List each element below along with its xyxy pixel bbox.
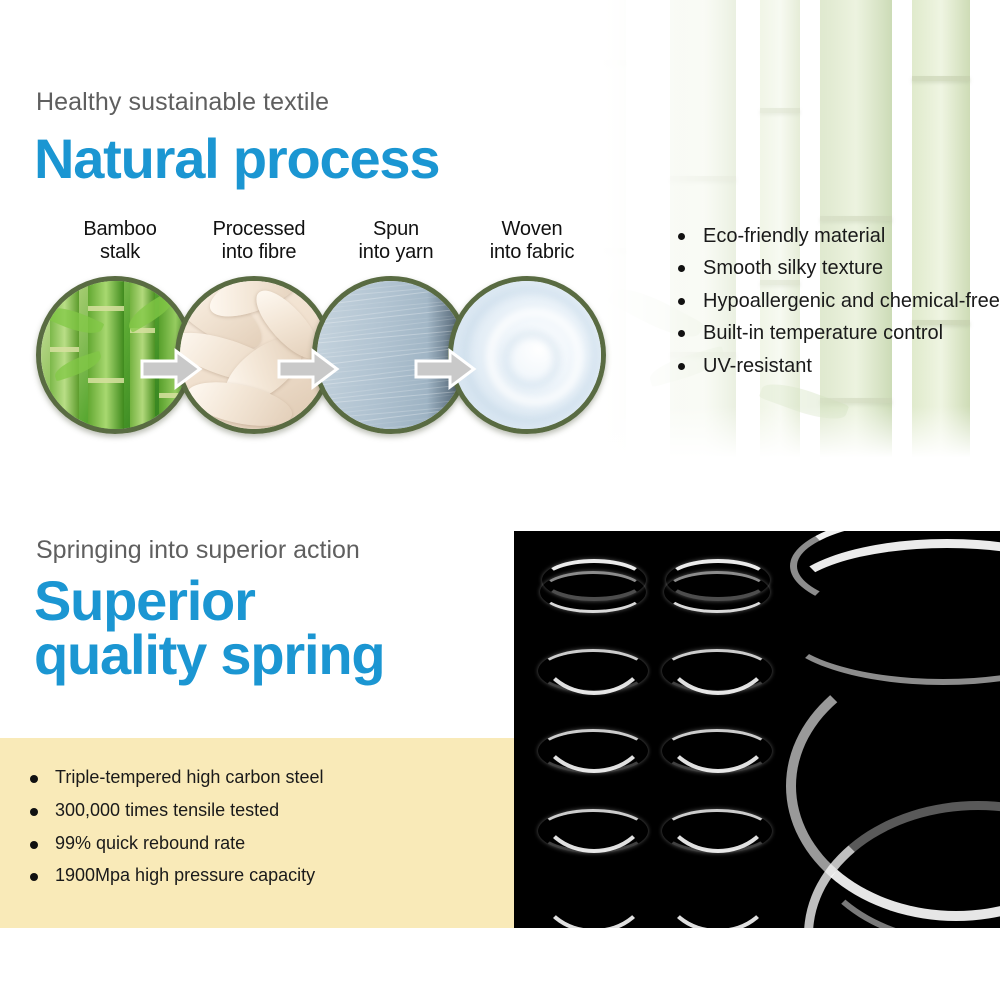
process-step-woven-into-fabric: Woven into fabric — [448, 218, 616, 263]
process-step-label: Woven into fabric — [448, 218, 616, 263]
bullet-dot-icon — [30, 808, 38, 816]
bullet-dot-icon — [30, 775, 38, 783]
bullet-dot-icon — [678, 363, 685, 370]
bullet-dot-icon — [678, 330, 685, 337]
list-item-label: Hypoallergenic and chemical-free — [703, 287, 1000, 315]
coil-spring-small — [660, 553, 770, 913]
spring-features-list: Triple-tempered high carbon steel 300,00… — [30, 766, 323, 897]
eyebrow-spring: Springing into superior action — [36, 536, 360, 565]
process-step-label-line1: Processed — [213, 218, 306, 240]
bullet-dot-icon — [678, 298, 685, 305]
right-arrow-icon — [414, 348, 476, 390]
list-item: UV-resistant — [678, 352, 1000, 380]
process-step-label-line1: Woven — [502, 218, 563, 240]
list-item-label: 1900Mpa high pressure capacity — [55, 864, 315, 888]
chrome-coil-springs-photo — [514, 531, 1000, 928]
bullet-dot-icon — [30, 873, 38, 881]
list-item-label: Smooth silky texture — [703, 254, 883, 282]
bullet-dot-icon — [30, 841, 38, 849]
bullet-dot-icon — [678, 233, 685, 240]
list-item-label: 300,000 times tensile tested — [55, 799, 279, 823]
list-item: 99% quick rebound rate — [30, 832, 323, 856]
process-step-label-line1: Bamboo — [83, 218, 156, 240]
natural-process-section: Healthy sustainable textile Natural proc… — [0, 0, 1000, 466]
process-step-label-line1: Spun — [373, 218, 419, 240]
process-step-label-line2: stalk — [100, 241, 140, 263]
eyebrow-natural: Healthy sustainable textile — [36, 88, 329, 117]
right-arrow-icon — [277, 348, 339, 390]
headline-spring-line2: quality spring — [34, 623, 384, 686]
list-item: Built-in temperature control — [678, 319, 1000, 347]
list-item-label: Eco-friendly material — [703, 222, 885, 250]
bullet-dot-icon — [678, 265, 685, 272]
list-item-label: Built-in temperature control — [703, 319, 943, 347]
natural-benefits-list: Eco-friendly material Smooth silky textu… — [678, 222, 1000, 384]
coil-spring-small — [536, 553, 646, 913]
list-item: 300,000 times tensile tested — [30, 799, 323, 823]
process-diagram: Bamboo stalk — [0, 218, 660, 466]
process-step-label-line2: into fibre — [222, 241, 297, 263]
process-step-label-line2: into yarn — [359, 241, 434, 263]
list-item: Eco-friendly material — [678, 222, 1000, 250]
headline-spring: Superior quality spring — [34, 574, 384, 682]
superior-spring-section: Springing into superior action Superior … — [0, 466, 1000, 1000]
right-arrow-icon — [140, 348, 202, 390]
list-item-label: UV-resistant — [703, 352, 812, 380]
list-item: Hypoallergenic and chemical-free — [678, 287, 1000, 315]
process-step-label-line2: into fabric — [490, 241, 575, 263]
list-item: Triple-tempered high carbon steel — [30, 766, 323, 790]
list-item-label: Triple-tempered high carbon steel — [55, 766, 323, 790]
list-item-label: 99% quick rebound rate — [55, 832, 245, 856]
list-item: 1900Mpa high pressure capacity — [30, 864, 323, 888]
coil-spring-large — [774, 531, 1000, 928]
list-item: Smooth silky texture — [678, 254, 1000, 282]
headline-natural: Natural process — [34, 126, 439, 191]
